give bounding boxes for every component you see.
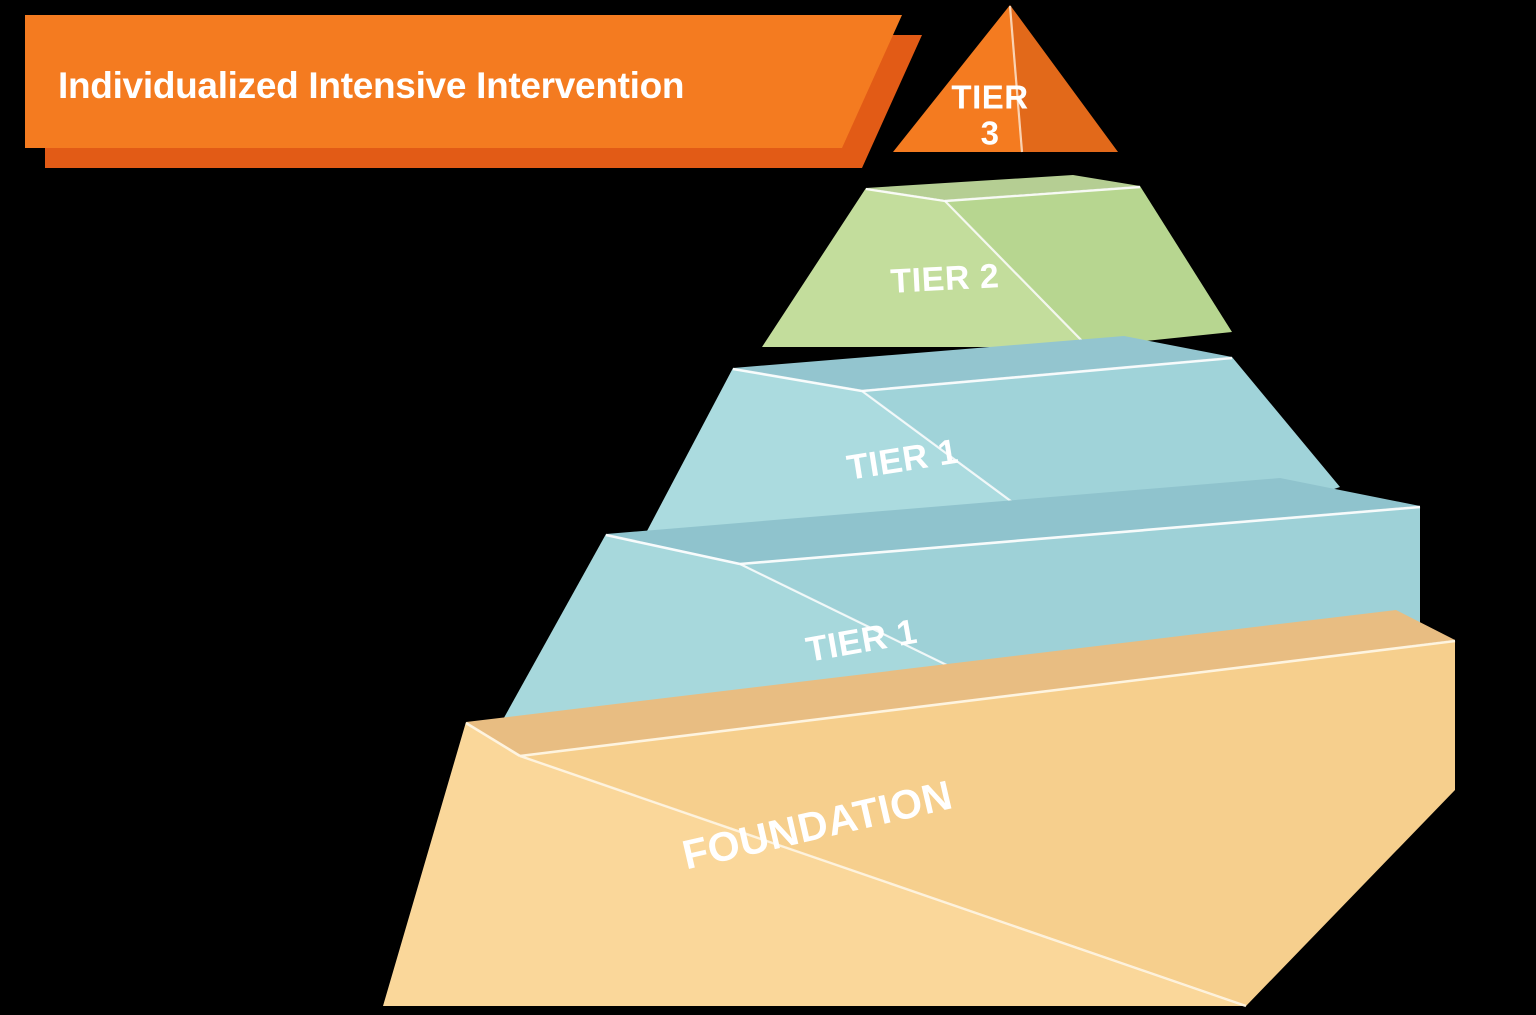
pyramid-diagram: Individualized Intensive Intervention TI… (0, 0, 1536, 1015)
callout-label: Individualized Intensive Intervention (58, 65, 684, 106)
callout-banner-group[interactable]: Individualized Intensive Intervention (25, 15, 922, 168)
tier-3-label-line-2: 3 (981, 115, 1000, 152)
tier-2-label: TIER 2 (890, 257, 1001, 301)
pyramid-level-tier-2[interactable]: TIER 2 (762, 175, 1232, 347)
diagram-canvas: Individualized Intensive Intervention TI… (0, 0, 1536, 1015)
tier-3-label-line-1: TIER (951, 79, 1028, 116)
pyramid-level-tier-3[interactable]: TIER 3 (893, 5, 1118, 152)
